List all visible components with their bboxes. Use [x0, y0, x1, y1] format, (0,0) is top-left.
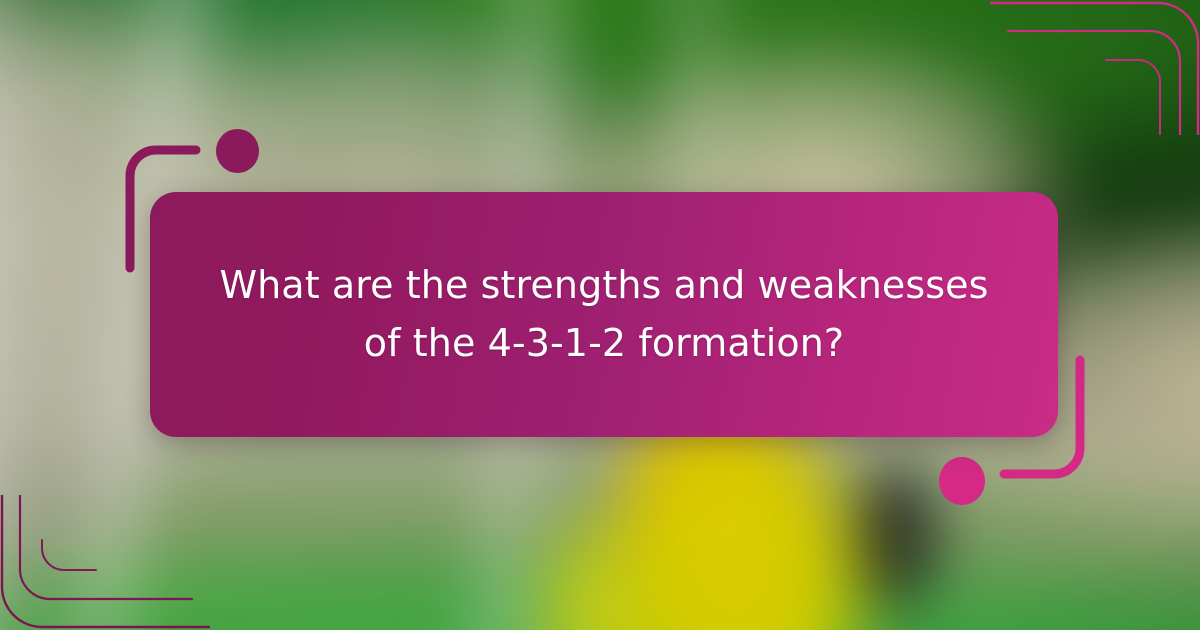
top-left-accent-dot-icon — [216, 129, 259, 173]
question-card: What are the strengths and weaknesses of… — [150, 192, 1058, 437]
question-text: What are the strengths and weaknesses of… — [212, 257, 996, 373]
bottom-right-accent-dot-icon — [939, 457, 985, 505]
question-card-canvas: What are the strengths and weaknesses of… — [0, 0, 1200, 630]
